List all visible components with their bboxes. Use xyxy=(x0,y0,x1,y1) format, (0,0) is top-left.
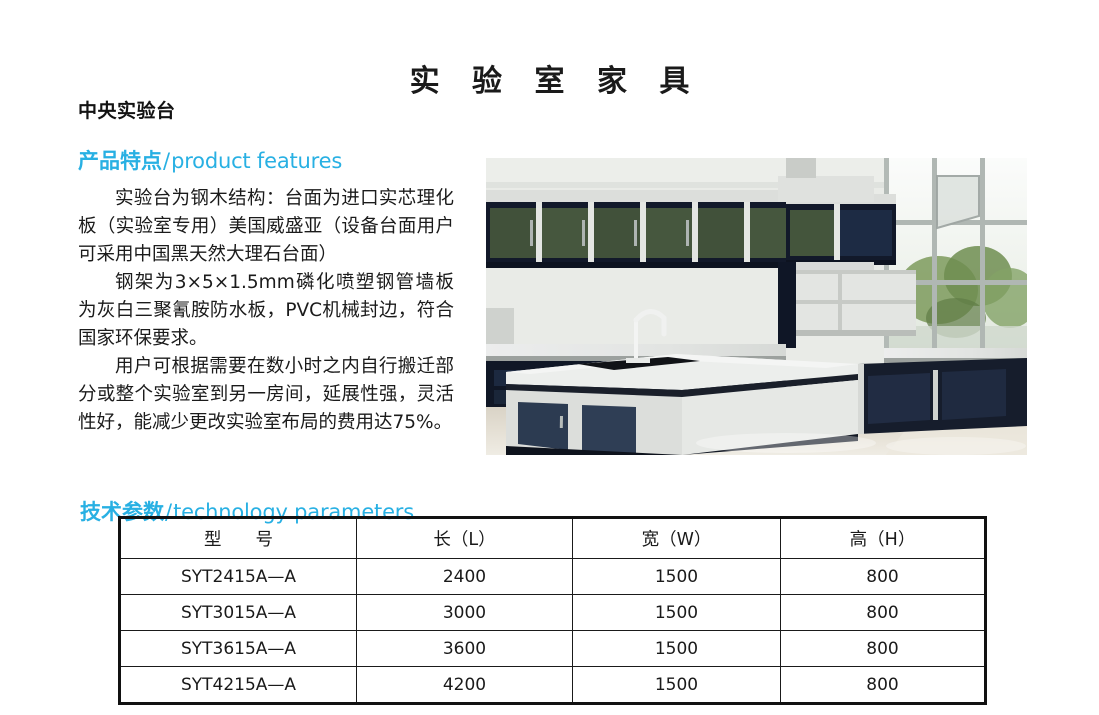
cell-length: 2400 xyxy=(357,559,573,595)
table-row: SYT4215A—A 4200 1500 800 xyxy=(120,667,986,704)
left-content-column: 中央实验台 产品特点/product features 实验台为钢木结构：台面为… xyxy=(78,96,468,437)
section-heading-en: product features xyxy=(171,149,342,173)
cell-model: SYT3615A—A xyxy=(120,631,357,667)
page-title: 实 验 室 家 具 xyxy=(0,56,1099,100)
section-heading-cn: 产品特点 xyxy=(78,149,162,173)
table-row: SYT3015A—A 3000 1500 800 xyxy=(120,595,986,631)
cell-width: 1500 xyxy=(573,631,781,667)
technical-parameters-table: 型号 长（L） 宽（W） 高（H） SYT2415A—A 2400 1500 8… xyxy=(118,516,987,705)
upper-cabinets-right xyxy=(786,194,896,265)
cell-height: 800 xyxy=(781,559,986,595)
cell-model: SYT2415A—A xyxy=(120,559,357,595)
feature-paragraph-3: 用户可根据需要在数小时之内自行搬迁部分或整个实验室到另一房间，延展性强，灵活性好… xyxy=(78,353,454,437)
header-model-char-2: 号 xyxy=(256,530,274,550)
laboratory-bench-photo xyxy=(486,158,1027,455)
cell-height: 800 xyxy=(781,631,986,667)
section-heading-slash: / xyxy=(162,149,171,173)
cell-model: SYT3015A—A xyxy=(120,595,357,631)
header-model-char-1: 型 xyxy=(204,530,222,550)
cell-width: 1500 xyxy=(573,595,781,631)
table-row: SYT3615A—A 3600 1500 800 xyxy=(120,631,986,667)
technical-parameters-table-wrap: 型号 长（L） 宽（W） 高（H） SYT2415A—A 2400 1500 8… xyxy=(118,516,978,705)
cell-height: 800 xyxy=(781,595,986,631)
cell-height: 800 xyxy=(781,667,986,704)
product-features-body: 实验台为钢木结构：台面为进口实芯理化板（实验室专用）美国威盛亚（设备台面用户可采… xyxy=(78,185,454,437)
cell-length: 3600 xyxy=(357,631,573,667)
product-subtitle: 中央实验台 xyxy=(78,96,468,123)
feature-paragraph-2: 钢架为3×5×1.5mm磷化喷塑钢管墙板为灰白三聚氰胺防水板，PVC机械封边，符… xyxy=(78,269,454,353)
reagent-shelf xyxy=(796,270,916,336)
cell-width: 1500 xyxy=(573,667,781,704)
table-header-row: 型号 长（L） 宽（W） 高（H） xyxy=(120,518,986,559)
cell-model: SYT4215A—A xyxy=(120,667,357,704)
header-cell-length: 长（L） xyxy=(357,518,573,559)
upper-cabinets-left xyxy=(486,190,786,268)
section-heading-product-features: 产品特点/product features xyxy=(78,145,468,175)
cell-length: 3000 xyxy=(357,595,573,631)
island-base-cabinets-right xyxy=(858,358,1027,434)
header-cell-model: 型号 xyxy=(120,518,357,559)
cell-width: 1500 xyxy=(573,559,781,595)
cell-length: 4200 xyxy=(357,667,573,704)
feature-paragraph-1: 实验台为钢木结构：台面为进口实芯理化板（实验室专用）美国威盛亚（设备台面用户可采… xyxy=(78,185,454,269)
header-cell-width: 宽（W） xyxy=(573,518,781,559)
header-cell-height: 高（H） xyxy=(781,518,986,559)
table-row: SYT2415A—A 2400 1500 800 xyxy=(120,559,986,595)
